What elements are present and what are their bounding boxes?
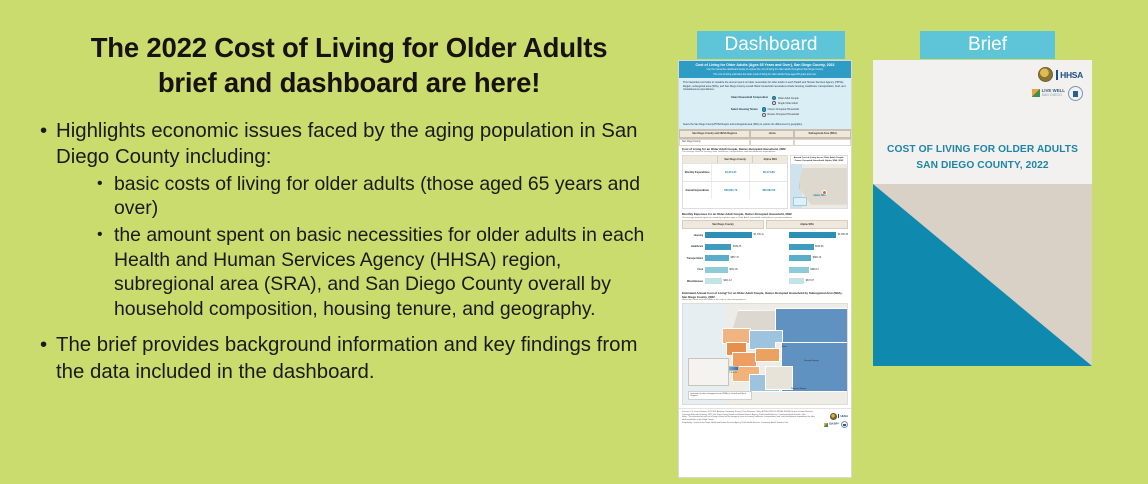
brief-title: COST OF LIVING FOR OLDER ADULTS SAN DIEG… bbox=[873, 142, 1092, 174]
bar-track: $884.19 bbox=[789, 255, 848, 261]
bar-row: $672.87 bbox=[766, 275, 848, 287]
bullet-glyph: • bbox=[40, 332, 47, 358]
radio-label: Renter-Occupied Household bbox=[768, 113, 800, 116]
sra-region-north-east[interactable] bbox=[775, 308, 848, 344]
brief-logo-row-2: LIVE WELL SAN DIEGO bbox=[1032, 86, 1083, 101]
mini-map-canvas[interactable]: Alpine SRA bbox=[791, 164, 847, 208]
slide-text-column: The 2022 Cost of Living for Older Adults… bbox=[36, 30, 662, 388]
bar-section-heading: Monthly Expenses for an Older Adult Coup… bbox=[679, 211, 851, 220]
radio-icon[interactable] bbox=[772, 101, 776, 105]
map-section-heading: Estimated Annual Cost of Living* for an … bbox=[679, 290, 851, 303]
brief-cover-thumbnail[interactable]: HHSA LIVE WELL SAN DIEGO COST OF LIVING … bbox=[873, 60, 1092, 366]
bar-row: Miscellaneous $611.43 bbox=[682, 275, 764, 287]
hhsa-logo: HHSA bbox=[838, 414, 848, 418]
live-well-square-icon bbox=[824, 423, 827, 426]
bar-label bbox=[766, 245, 787, 248]
region-value-county[interactable]: San Diego County bbox=[679, 139, 750, 146]
map-ocean bbox=[683, 304, 726, 404]
bar-track: $611.43 bbox=[705, 278, 764, 284]
bar-value: $672.87 bbox=[806, 280, 814, 282]
live-well-square-icon bbox=[1032, 89, 1040, 97]
radio-single-older-adult[interactable]: Single Older Adult bbox=[772, 101, 799, 105]
list-item-text: the amount spent on basic necessities fo… bbox=[114, 224, 644, 320]
household-composition-label: Select Household Composition bbox=[731, 96, 768, 100]
live-well-text: LIVE WELL SAN DIEGO bbox=[829, 423, 840, 427]
live-well-logo: LIVE WELL SAN DIEGO bbox=[1032, 89, 1065, 97]
bar-row: $884.19 bbox=[766, 252, 848, 264]
footer-logo-row-2: LIVE WELL SAN DIEGO bbox=[818, 421, 848, 428]
bar-chart-county: San Diego County Housing $1,735.11 Healt… bbox=[682, 220, 764, 287]
dashboard-subtitle-2: The cost of living estimates the basic c… bbox=[682, 73, 848, 76]
brief-logos: HHSA LIVE WELL SAN DIEGO bbox=[1032, 67, 1083, 101]
bullet-glyph: • bbox=[40, 118, 47, 144]
list-item-text: Highlights economic issues faced by the … bbox=[56, 120, 638, 168]
expenditure-table-header: San Diego County Alpine SRA bbox=[683, 156, 787, 163]
map-inset-note: Inset map of select subregional areas (S… bbox=[688, 391, 752, 400]
bar-fill bbox=[705, 255, 729, 261]
live-well-logo: LIVE WELL SAN DIEGO bbox=[824, 423, 839, 427]
bar-row: Healthcare $939.35 bbox=[682, 241, 764, 253]
bar-row: $880.12 bbox=[766, 264, 848, 276]
county-seal-icon bbox=[1038, 67, 1053, 82]
bar-value: $884.19 bbox=[813, 257, 821, 259]
row-sra-value: $5,471.88 bbox=[750, 164, 787, 181]
bar-label: Healthcare bbox=[682, 245, 703, 248]
mini-map-title: Annual Cost of Living for an Older Adult… bbox=[791, 156, 847, 165]
bar-chart-sra: Alpine SRA $2,095.35 $939.35 bbox=[766, 220, 848, 287]
sra-region-alpine[interactable] bbox=[755, 348, 780, 362]
footer-text: Sources: U.S. Census Bureau, 2017-2021 A… bbox=[682, 411, 815, 424]
bar-label: Transportation bbox=[682, 257, 703, 260]
bar-label bbox=[766, 280, 787, 283]
housing-tenure-control[interactable]: Select Housing Tenure Owner-Occupied Hou… bbox=[683, 107, 847, 116]
list-item: • The brief provides background informat… bbox=[36, 332, 662, 384]
bar-value: $939.35 bbox=[815, 246, 823, 248]
bar-value: $857.37 bbox=[731, 257, 739, 259]
bar-value: $831.05 bbox=[729, 269, 737, 271]
household-composition-control[interactable]: Select Household Composition Older Adult… bbox=[683, 96, 847, 105]
list-item-text: basic costs of living for older adults (… bbox=[114, 173, 640, 220]
brief-title-line-2: SAN DIEGO COUNTY, 2022 bbox=[873, 158, 1092, 174]
row-label: Monthly Expenditure bbox=[683, 164, 712, 181]
expenditure-block: San Diego County Alpine SRA Monthly Expe… bbox=[679, 155, 851, 212]
bar-label: Food bbox=[682, 268, 703, 271]
household-composition-options[interactable]: Older Adult Couple Single Older Adult bbox=[772, 96, 799, 105]
bar-fill bbox=[789, 232, 836, 238]
bullet-glyph: • bbox=[97, 223, 103, 247]
row-sra-value: $65,662.56 bbox=[750, 182, 787, 199]
bar-row: $2,095.35 bbox=[766, 229, 848, 241]
bar-fill bbox=[705, 232, 752, 238]
spacer bbox=[36, 325, 662, 332]
region-header-home[interactable]: Home bbox=[750, 130, 794, 138]
bullet-list: • Highlights economic issues faced by th… bbox=[36, 118, 662, 384]
bar-row: Food $831.05 bbox=[682, 264, 764, 276]
title-line-1: The 2022 Cost of Living for Older Adults bbox=[42, 30, 656, 65]
bar-value: $939.35 bbox=[733, 246, 741, 248]
sub-bullet-list: • basic costs of living for older adults… bbox=[56, 172, 662, 322]
brief-logo-row-1: HHSA bbox=[1038, 67, 1083, 82]
bar-fill bbox=[789, 278, 804, 284]
mini-map-point-label: Alpine SRA bbox=[813, 195, 826, 197]
bar-fill bbox=[705, 244, 732, 250]
choropleth-map-wrap[interactable]: Borrego Springs Julian Mountain Empire $… bbox=[679, 303, 851, 408]
row-county-value: $59,691.72 bbox=[712, 182, 750, 199]
expenditure-section-heading: Cost of Living for an Older Adult Couple… bbox=[679, 146, 851, 155]
radio-label: Older Adult Couple bbox=[778, 97, 799, 100]
dashboard-thumbnail[interactable]: Cost of Living for Older Adults (Ages 65… bbox=[678, 60, 852, 478]
housing-tenure-options[interactable]: Owner-Occupied Household Renter-Occupied… bbox=[762, 107, 799, 116]
map-label-mountain-empire: Mountain Empire bbox=[791, 388, 806, 390]
radio-older-adult-couple[interactable]: Older Adult Couple bbox=[772, 96, 799, 100]
live-well-sub: SAN DIEGO bbox=[1042, 94, 1065, 98]
footer-logos: HHSA LIVE WELL SAN DIEGO bbox=[818, 411, 848, 430]
bar-fill bbox=[789, 244, 814, 250]
expenditure-col-sra: Alpine SRA bbox=[753, 156, 787, 163]
radio-owner-occupied[interactable]: Owner-Occupied Household bbox=[762, 107, 799, 111]
footer-row: Sources: U.S. Census Bureau, 2017-2021 A… bbox=[682, 411, 848, 430]
dashboard-subtitle-1: Use the interactive dashboard below to e… bbox=[682, 68, 848, 71]
radio-icon[interactable] bbox=[772, 96, 776, 100]
county-seal-icon bbox=[830, 413, 837, 420]
dashboard-intro-text: This interactive tool helps to visualize… bbox=[679, 78, 851, 95]
bar-value: $2,095.35 bbox=[838, 234, 848, 236]
bar-fill bbox=[789, 255, 811, 261]
bar-chart-sra-title: Alpine SRA bbox=[766, 220, 848, 229]
brief-title-line-1: COST OF LIVING FOR OLDER ADULTS bbox=[873, 142, 1092, 158]
region-value-home[interactable] bbox=[750, 139, 794, 146]
choropleth-map[interactable]: Borrego Springs Julian Mountain Empire $… bbox=[682, 303, 848, 405]
row-label: Annual Expenditure bbox=[683, 182, 712, 199]
dashboard-selection-note: Select the San Diego County/HHSA Region … bbox=[679, 122, 851, 129]
bar-charts: San Diego County Housing $1,735.11 Healt… bbox=[679, 220, 851, 290]
bar-value: $880.12 bbox=[810, 269, 818, 271]
row-county-value: $4,974.31 bbox=[712, 164, 750, 181]
radio-icon[interactable] bbox=[762, 107, 766, 111]
footer-logo-row-1: HHSA bbox=[818, 413, 848, 420]
bar-fill bbox=[789, 267, 809, 273]
bar-chart-county-title: San Diego County bbox=[682, 220, 764, 229]
bar-track: $672.87 bbox=[789, 278, 848, 284]
bar-label bbox=[766, 257, 787, 260]
bar-fill bbox=[705, 278, 722, 284]
list-item: • basic costs of living for older adults… bbox=[92, 172, 662, 221]
map-label-julian: Julian bbox=[781, 346, 786, 348]
bar-track: $939.35 bbox=[789, 244, 848, 250]
bar-label bbox=[766, 234, 787, 237]
map-label-borrego: Borrego Springs bbox=[804, 360, 818, 362]
bar-value: $611.43 bbox=[723, 280, 731, 282]
bar-track: $939.35 bbox=[705, 244, 764, 250]
public-health-badge-icon bbox=[1068, 86, 1083, 101]
radio-label: Owner-Occupied Household bbox=[768, 108, 799, 111]
dashboard-label-banner: Dashboard bbox=[697, 31, 845, 59]
hhsa-logo: HHSA bbox=[1056, 70, 1083, 80]
expenditure-col-blank bbox=[683, 156, 718, 163]
bar-value: $1,735.11 bbox=[754, 234, 764, 236]
region-header-sra[interactable]: Subregional Area (SRA) bbox=[794, 130, 851, 138]
mini-map[interactable]: Annual Cost of Living for an Older Adult… bbox=[790, 155, 848, 210]
list-item: • the amount spent on basic necessities … bbox=[92, 223, 662, 322]
region-header-county[interactable]: San Diego County and HHSA Regions bbox=[679, 130, 750, 138]
brief-label-banner: Brief bbox=[920, 31, 1055, 59]
region-value-sra[interactable] bbox=[794, 139, 851, 146]
housing-tenure-label: Select Housing Tenure bbox=[731, 107, 758, 111]
sra-region-mountain-empire[interactable] bbox=[765, 366, 793, 390]
live-well-text: LIVE WELL SAN DIEGO bbox=[1042, 89, 1065, 97]
dashboard-footer: Sources: U.S. Census Bureau, 2017-2021 A… bbox=[679, 408, 851, 432]
expenditure-table: San Diego County Alpine SRA Monthly Expe… bbox=[682, 155, 788, 210]
table-row: Monthly Expenditure $4,974.31 $5,471.88 bbox=[683, 163, 787, 181]
radio-icon[interactable] bbox=[762, 113, 766, 117]
bar-track: $857.37 bbox=[705, 255, 764, 261]
title-line-2: brief and dashboard are here! bbox=[42, 65, 656, 100]
live-well-sub: SAN DIEGO bbox=[829, 425, 840, 427]
bar-track: $1,735.11 bbox=[705, 232, 764, 238]
bar-label: Miscellaneous bbox=[682, 280, 703, 283]
mini-map-inset bbox=[793, 197, 807, 206]
bar-fill bbox=[705, 267, 728, 273]
expenditure-col-county: San Diego County bbox=[718, 156, 753, 163]
dashboard-header: Cost of Living for Older Adults (Ages 65… bbox=[679, 61, 851, 78]
bar-row: Housing $1,735.11 bbox=[682, 229, 764, 241]
footer-prepared-by: Prepared by: County of San Diego, Health… bbox=[682, 422, 815, 425]
bar-track: $880.12 bbox=[789, 267, 848, 273]
public-health-badge-icon bbox=[841, 421, 848, 428]
dashboard-title: Cost of Living for Older Adults (Ages 65… bbox=[682, 63, 848, 67]
bar-track: $2,095.35 bbox=[789, 232, 848, 238]
bar-row: Transportation $857.37 bbox=[682, 252, 764, 264]
bar-label bbox=[766, 268, 787, 271]
radio-label: Single Older Adult bbox=[778, 102, 798, 105]
region-selector-row[interactable]: San Diego County bbox=[679, 138, 851, 146]
region-selector-table[interactable]: San Diego County and HHSA Regions Home S… bbox=[679, 129, 851, 138]
map-inset-panel bbox=[688, 358, 729, 386]
bar-track: $831.05 bbox=[705, 267, 764, 273]
radio-renter-occupied[interactable]: Renter-Occupied Household bbox=[762, 113, 799, 117]
bullet-glyph: • bbox=[97, 172, 103, 196]
bar-row: $939.35 bbox=[766, 241, 848, 253]
list-item: • Highlights economic issues faced by th… bbox=[36, 118, 662, 321]
table-row: Annual Expenditure $59,691.72 $65,662.56 bbox=[683, 181, 787, 199]
dashboard-filter-controls[interactable]: Select Household Composition Older Adult… bbox=[679, 95, 851, 122]
list-item-text: The brief provides background informatio… bbox=[56, 334, 637, 382]
bar-label: Housing bbox=[682, 234, 703, 237]
page-title: The 2022 Cost of Living for Older Adults… bbox=[36, 30, 662, 100]
